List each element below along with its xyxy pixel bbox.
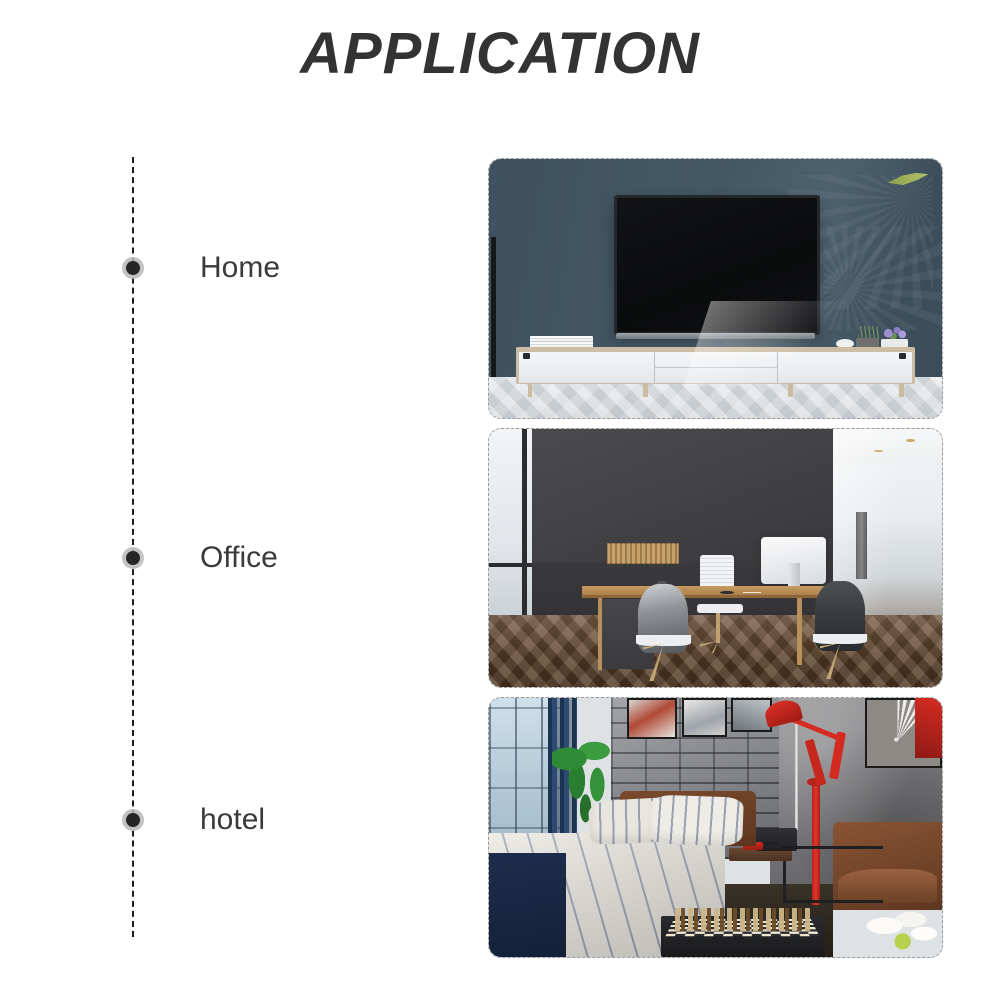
timeline-dot-icon	[126, 813, 140, 827]
console-leg	[899, 384, 904, 397]
tv-screen	[617, 198, 817, 332]
wood-slat-panel	[607, 543, 679, 565]
framed-art	[682, 698, 727, 737]
office-scene	[489, 429, 942, 687]
console-handle	[899, 353, 905, 359]
console-seam	[777, 352, 778, 383]
timeline-label-office: Office	[200, 541, 278, 575]
timeline-dot-icon	[126, 261, 140, 275]
task-chair-back	[700, 555, 734, 589]
console-leg	[788, 384, 793, 397]
desk-edge	[582, 595, 831, 599]
television	[614, 195, 820, 335]
chess-pieces	[675, 908, 811, 931]
pen-icon	[743, 592, 761, 593]
hotel-scene	[489, 698, 942, 957]
console-handle	[523, 353, 529, 359]
living-room-photo	[488, 158, 943, 419]
lily-flowers	[860, 905, 942, 957]
console-leg	[528, 384, 533, 397]
timeline-dot-icon	[126, 551, 140, 565]
desk-leg	[797, 598, 802, 665]
wall-edge-trim	[491, 237, 496, 379]
task-chair-post	[716, 612, 720, 643]
application-slide: APPLICATION Home Office hotel	[0, 0, 1000, 1000]
timeline-label-hotel: hotel	[200, 803, 265, 837]
console-leg	[643, 384, 648, 397]
console-seam	[654, 367, 776, 368]
pillow	[647, 795, 744, 847]
hotel-photo	[488, 697, 943, 958]
living-room-scene	[489, 159, 942, 418]
task-chair-legs	[700, 641, 736, 654]
page-title: APPLICATION	[0, 20, 1000, 87]
framed-art	[627, 698, 677, 739]
window-sill	[489, 563, 532, 567]
office-photo	[488, 428, 943, 688]
desk-leg	[598, 598, 603, 670]
poster-red-accent	[915, 698, 942, 758]
task-chair-seat	[697, 604, 742, 613]
visitor-chair-left-legs	[643, 644, 684, 680]
timeline-label-home: Home	[200, 251, 280, 285]
visitor-chair-right-legs	[820, 643, 861, 679]
bed-throw-blanket	[489, 853, 566, 957]
flower-bouquet	[879, 325, 911, 341]
metal-rail	[783, 846, 883, 903]
soundbar	[616, 333, 815, 340]
mouse-icon	[720, 591, 734, 595]
window-mullion	[522, 429, 527, 635]
